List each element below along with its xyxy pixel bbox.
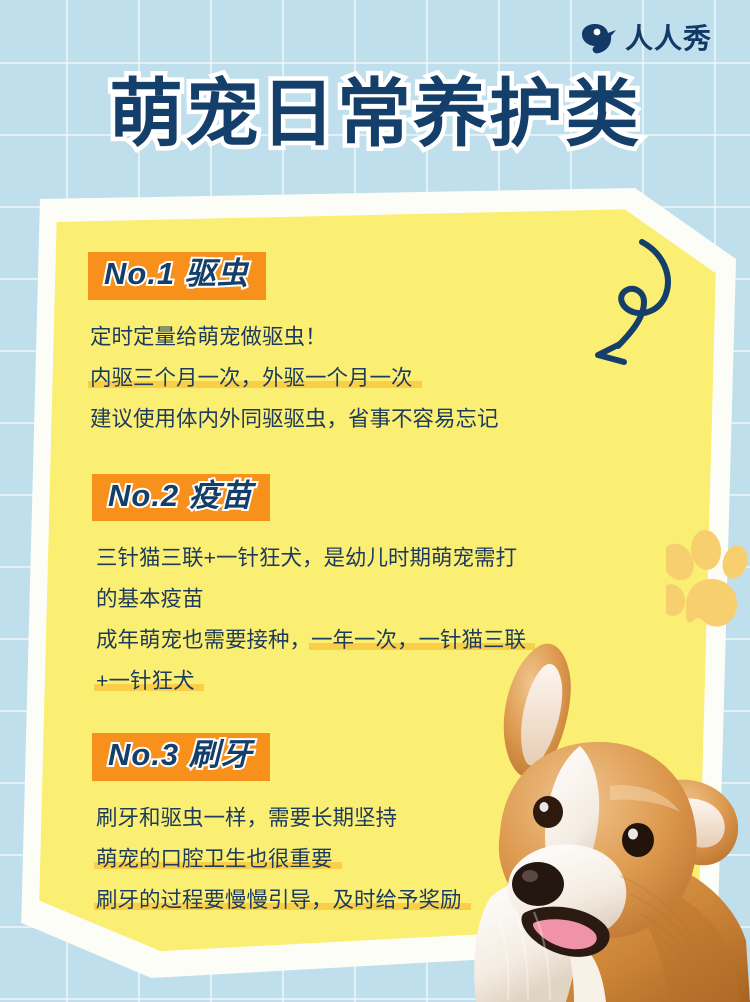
brand-name: 人人秀 — [625, 25, 712, 53]
brand-logo: 人人秀 — [580, 22, 712, 56]
section-no2-badge: No.2 疫苗 — [92, 474, 270, 522]
body-line: 萌宠的口腔卫生也很重要 — [96, 839, 333, 880]
body-line-text: 刷牙和驱虫一样，需要长期坚持 — [96, 806, 397, 830]
body-line: 刷牙的过程要慢慢引导，及时给予奖励 — [96, 880, 462, 921]
section-no3-badge-label: No.3 刷牙 — [108, 737, 253, 772]
body-line-text: 定时定量给萌宠做驱虫！ — [90, 325, 327, 349]
body-line-text-highlighted: 内驱三个月一次，外驱一个月一次 — [90, 366, 413, 390]
body-line: 建议使用体内外同驱驱虫，省事不容易忘记 — [90, 399, 499, 440]
page-title: 萌宠日常养护类 — [0, 76, 750, 151]
body-line: 成年萌宠也需要接种，一年一次，一针猫三联 — [96, 620, 526, 661]
section-no1-badge-label: No.1 驱虫 — [104, 256, 249, 291]
section-no1-badge: No.1 驱虫 — [88, 252, 266, 300]
body-line-text: 三针猫三联+一针狂犬，是幼儿时期萌宠需打 — [96, 546, 517, 570]
bird-icon — [580, 22, 618, 56]
curved-arrow-doodle-icon — [586, 236, 698, 372]
body-line: 定时定量给萌宠做驱虫！ — [90, 317, 327, 358]
body-line-text-highlighted: +一针狂犬 — [96, 669, 195, 693]
corgi-dog-photo — [470, 636, 750, 1002]
body-line: 内驱三个月一次，外驱一个月一次 — [90, 358, 413, 399]
body-line: 的基本疫苗 — [96, 579, 204, 620]
body-line-text-highlighted: 萌宠的口腔卫生也很重要 — [96, 847, 333, 871]
body-line-text: 建议使用体内外同驱驱虫，省事不容易忘记 — [90, 407, 499, 431]
section-no2-badge-label: No.2 疫苗 — [108, 478, 253, 513]
body-line-text: 成年萌宠也需要接种， — [96, 628, 311, 652]
body-line: 三针猫三联+一针狂犬，是幼儿时期萌宠需打 — [96, 538, 517, 579]
body-line-text: 的基本疫苗 — [96, 587, 204, 611]
section-no3-badge: No.3 刷牙 — [92, 733, 270, 781]
body-line: 刷牙和驱虫一样，需要长期坚持 — [96, 798, 397, 839]
body-line-text-highlighted: 刷牙的过程要慢慢引导，及时给予奖励 — [96, 888, 462, 912]
body-line: +一针狂犬 — [96, 661, 195, 702]
